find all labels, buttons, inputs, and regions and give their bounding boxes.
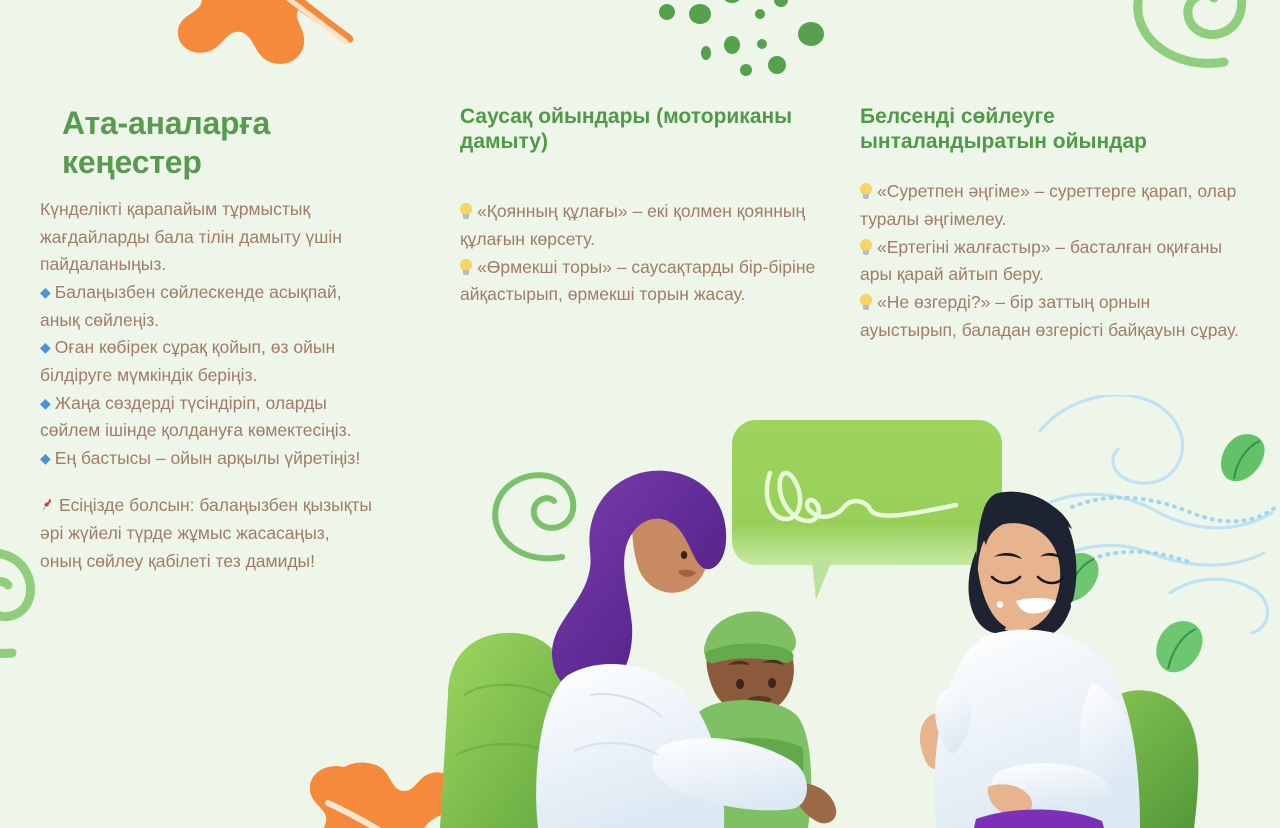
column-3-title: Белсенді сөйлеуге ынталандыратын ойындар	[860, 104, 1240, 154]
diamond-bullet-icon: ◆	[40, 450, 51, 466]
armchair-right	[858, 690, 1198, 828]
lightbulb-icon	[460, 203, 472, 220]
list-item: ◆Ең бастысы – ойын арқылы үйретіңіз!	[40, 445, 375, 473]
paragraph-spacer	[40, 472, 375, 492]
column-finger-games: Саусақ ойындары (моториканы дамыту) «Қоя…	[430, 0, 860, 575]
column-3-body: «Суретпен әңгіме» – суреттерге қарап, ол…	[860, 178, 1240, 344]
lightbulb-icon	[860, 183, 872, 200]
armchair-left	[440, 633, 576, 828]
list-item: «Қоянның құлағы» – екі қолмен қоянның құ…	[460, 198, 820, 253]
orange-oak-leaf-bottom-icon	[288, 755, 488, 828]
content-columns: Ата-аналарға кеңестер Күнделікті қарапай…	[0, 0, 1280, 575]
child-figure	[687, 611, 836, 828]
column-active-speech-games: Белсенді сөйлеуге ынталандыратын ойындар…	[860, 0, 1280, 575]
list-item: «Ертегіні жалғастыр» – басталған оқиғаны…	[860, 234, 1240, 289]
column-1-body: Күнделікті қарапайым тұрмыстық жағдайлар…	[40, 196, 375, 575]
list-item: «Не өзгерді?» – бір заттың орнын ауыстыр…	[860, 289, 1240, 344]
paragraph-intro: Күнделікті қарапайым тұрмыстық жағдайлар…	[40, 196, 375, 279]
column-2-body: «Қоянның құлағы» – екі қолмен қоянның құ…	[460, 198, 820, 309]
diamond-bullet-icon: ◆	[40, 284, 51, 300]
lightbulb-icon	[860, 239, 872, 256]
column-2-title: Саусақ ойындары (моториканы дамыту)	[460, 104, 820, 154]
list-item: «Өрмекші торы» – саусақтарды бір-біріне …	[460, 254, 820, 309]
diamond-bullet-icon: ◆	[40, 339, 51, 355]
column-parents-advice: Ата-аналарға кеңестер Күнделікті қарапай…	[0, 0, 430, 575]
column-1-title: Ата-аналарға кеңестер	[40, 104, 375, 182]
poster-canvas: Ата-аналарға кеңестер Күнделікті қарапай…	[0, 0, 1280, 828]
note-remember: Есіңізде болсын: балаңызбен қызықты әрі …	[40, 492, 375, 575]
list-item: ◆Оған көбірек сұрақ қойып, өз ойын білді…	[40, 334, 375, 389]
lightbulb-icon	[460, 259, 472, 276]
list-item: ◆Балаңызбен сөйлескенде асықпай, анық сө…	[40, 279, 375, 334]
list-item: «Суретпен әңгіме» – суреттерге қарап, ол…	[860, 178, 1240, 233]
lightbulb-icon	[860, 294, 872, 311]
diamond-bullet-icon: ◆	[40, 395, 51, 411]
pushpin-icon	[40, 494, 54, 509]
list-item: ◆Жаңа сөздерді түсіндіріп, оларды сөйлем…	[40, 390, 375, 445]
